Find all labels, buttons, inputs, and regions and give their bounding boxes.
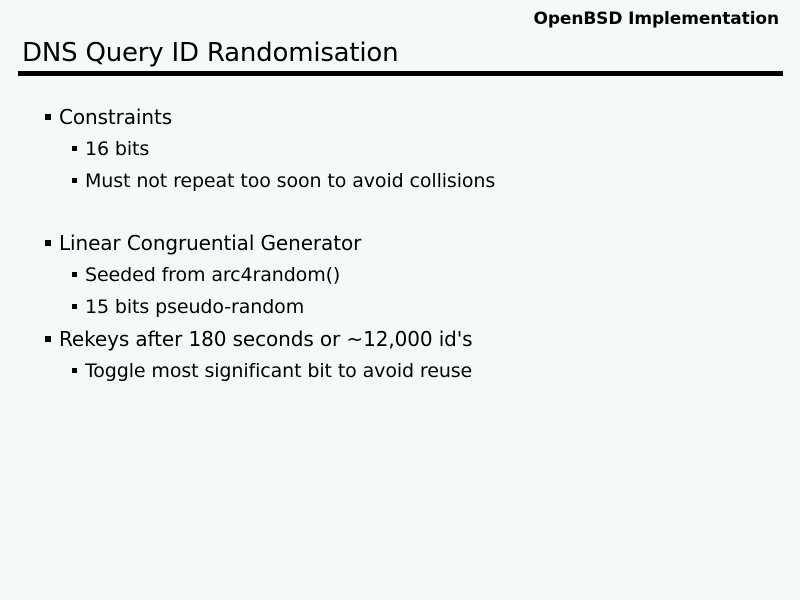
list-item: 16 bits <box>0 137 800 169</box>
page-title-text: DNS Query ID Randomisation <box>22 38 398 68</box>
list-item: Rekeys after 180 seconds or ~12,000 id's <box>0 327 800 359</box>
list-item-label: Seeded from arc4random() <box>85 263 340 287</box>
square-bullet-icon <box>72 304 77 309</box>
list-item-label: 16 bits <box>85 137 149 161</box>
list-item: Toggle most significant bit to avoid reu… <box>0 359 800 391</box>
square-bullet-icon <box>72 272 77 277</box>
list-item-label: Rekeys after 180 seconds or ~12,000 id's <box>59 327 472 351</box>
list-item-label: 15 bits pseudo-random <box>85 295 304 319</box>
bullet-spacer <box>0 201 800 231</box>
list-item: Linear Congruential Generator <box>0 231 800 263</box>
bullet-list: Constraints16 bitsMust not repeat too so… <box>0 105 800 600</box>
slide-header: OpenBSD Implementation <box>18 8 779 34</box>
square-bullet-icon <box>72 178 77 183</box>
square-bullet-icon <box>45 114 51 120</box>
square-bullet-icon <box>72 368 77 373</box>
square-bullet-icon <box>45 336 51 342</box>
page-title: DNS Query ID Randomisation <box>22 38 780 70</box>
list-item-label: Toggle most significant bit to avoid reu… <box>85 359 472 383</box>
list-item-label: Constraints <box>59 105 172 129</box>
list-item: 15 bits pseudo-random <box>0 295 800 327</box>
list-item: Must not repeat too soon to avoid collis… <box>0 169 800 201</box>
list-item: Constraints <box>0 105 800 137</box>
slide: OpenBSD Implementation DNS Query ID Rand… <box>0 0 800 600</box>
slide-header-text: OpenBSD Implementation <box>533 9 779 29</box>
list-item: Seeded from arc4random() <box>0 263 800 295</box>
title-divider <box>18 71 783 76</box>
square-bullet-icon <box>45 240 51 246</box>
list-item-label: Must not repeat too soon to avoid collis… <box>85 169 495 193</box>
list-item-label: Linear Congruential Generator <box>59 231 361 255</box>
square-bullet-icon <box>72 146 77 151</box>
